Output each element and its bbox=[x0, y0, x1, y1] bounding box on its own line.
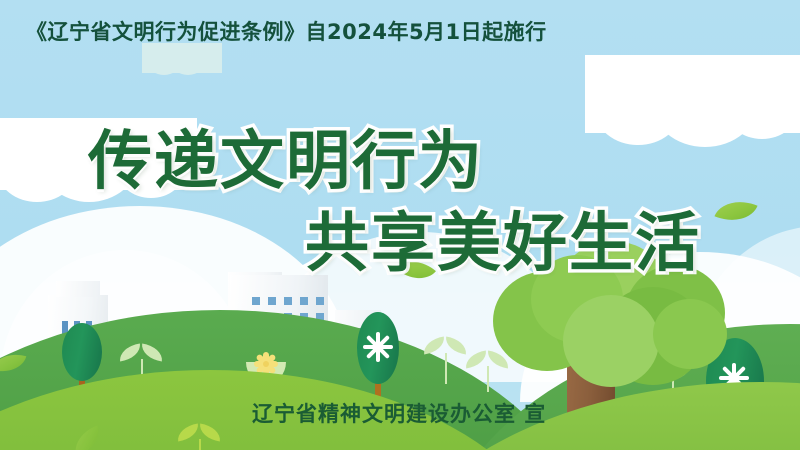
sprout-bottom bbox=[178, 425, 222, 450]
cloud-pale-header-icon bbox=[142, 43, 222, 73]
sprout-center-a bbox=[424, 338, 468, 384]
cloud-large-right-icon bbox=[585, 55, 800, 133]
header-regulation-notice: 《辽宁省文明行为促进条例》自2024年5月1日起施行 bbox=[26, 16, 547, 46]
title-line-2: 共享美好生活 bbox=[305, 192, 701, 284]
title-line-1: 传递文明行为 bbox=[88, 110, 484, 202]
sparkle-icon bbox=[363, 332, 393, 362]
footer-publisher: 辽宁省精神文明建设办公室 宣 bbox=[252, 398, 546, 428]
sprout-center-b bbox=[466, 352, 510, 392]
poster-canvas: 《辽宁省文明行为促进条例》自2024年5月1日起施行 传递文明行为 共享美好生活… bbox=[0, 0, 800, 450]
